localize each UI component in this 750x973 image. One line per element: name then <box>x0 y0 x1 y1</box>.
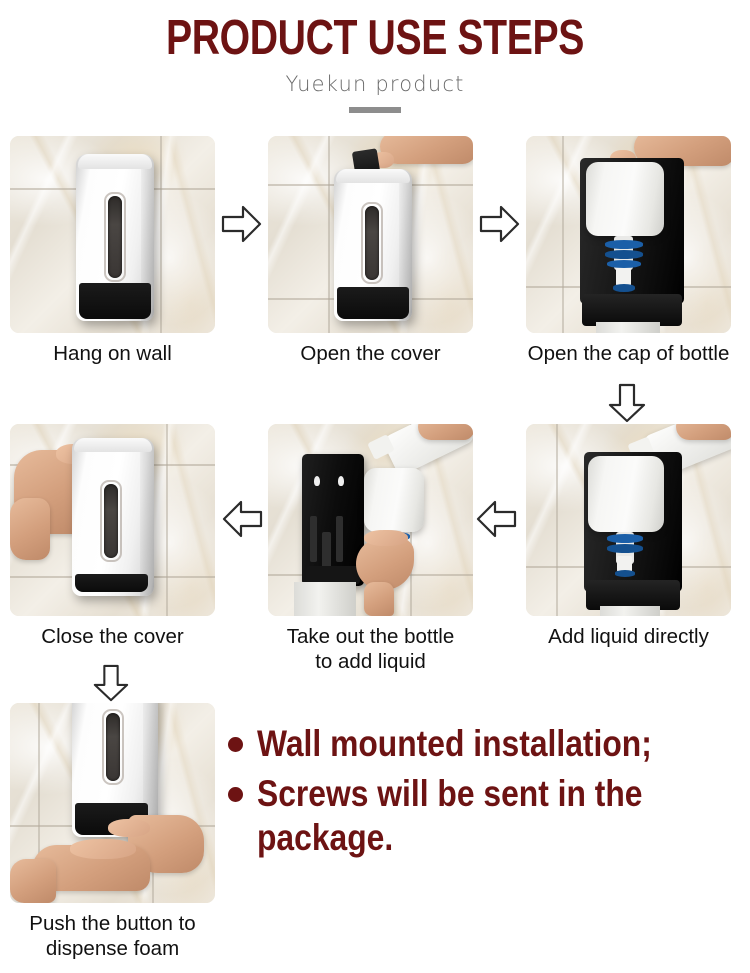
backplate-rail <box>310 516 317 562</box>
dispenser-top-cover <box>78 154 153 169</box>
pump-ring <box>607 260 641 268</box>
soap-dispenser <box>76 154 154 321</box>
step-card-4: Add liquid directly <box>526 424 731 616</box>
dispenser-push-button <box>79 283 151 319</box>
arrow-down-icon <box>92 664 130 702</box>
title-divider <box>349 107 401 113</box>
step-card-6: Close the cover <box>10 424 215 616</box>
arrow-left-icon <box>222 500 263 538</box>
forearm <box>364 582 394 616</box>
step-photo-5 <box>268 424 473 616</box>
screw-hole <box>314 476 320 486</box>
step-card-2: Open the cover <box>268 136 473 333</box>
arrow-right-icon <box>479 205 520 243</box>
pump-ring <box>607 534 643 543</box>
step-caption-7: Push the button to dispense foam <box>10 911 215 961</box>
header: PRODUCT USE STEPS Yuekun product <box>0 0 750 120</box>
feature-bullet-text: Screws will be sent in the package. <box>257 772 642 860</box>
feature-bullet-text: Wall mounted installation; <box>257 722 652 766</box>
arrow-down-icon <box>608 383 646 423</box>
finger <box>364 530 408 546</box>
step-caption-2: Open the cover <box>268 341 473 366</box>
screw-hole <box>338 476 344 486</box>
step-card-7: Push the button to dispense foam <box>10 703 215 903</box>
page-title: PRODUCT USE STEPS <box>75 13 675 64</box>
dispenser-backplate <box>302 454 364 586</box>
pump-ring <box>605 240 643 249</box>
feature-bullet-item: Screws will be sent in the package. <box>228 772 748 860</box>
tile-grout-line <box>556 424 558 616</box>
dispenser-level-window <box>106 713 120 781</box>
step-photo-4 <box>526 424 731 616</box>
tile-grout-line <box>160 136 162 333</box>
pump-ring <box>615 570 635 577</box>
soap-dispenser <box>334 169 412 321</box>
counter-pedestal <box>600 606 660 616</box>
step-caption-6: Close the cover <box>10 624 215 649</box>
refill-bottle <box>586 162 664 236</box>
arrow-right-icon <box>221 205 262 243</box>
dispenser-push-button <box>75 574 148 592</box>
forearm <box>10 859 56 903</box>
step-card-3: Open the cap of bottle <box>526 136 731 333</box>
refill-bottle <box>364 468 424 532</box>
step-caption-3: Open the cap of bottle <box>526 341 731 366</box>
bullet-dot-icon <box>228 737 243 752</box>
dispenser-push-button <box>337 287 409 319</box>
feature-bullet-item: Wall mounted installation; <box>228 722 748 766</box>
step-card-1: Hang on wall <box>10 136 215 333</box>
feature-bullet-list: Wall mounted installation; Screws will b… <box>228 722 748 866</box>
backplate-rail <box>336 516 343 562</box>
pump-ring <box>605 250 643 259</box>
step-caption-4: Add liquid directly <box>526 624 731 649</box>
soap-dispenser <box>72 438 154 596</box>
step-card-5: Take out the bottle to add liquid <box>268 424 473 616</box>
refill-bottle <box>588 456 664 532</box>
finger <box>108 819 150 837</box>
tile-grout-line <box>562 136 564 333</box>
counter-pedestal <box>596 322 660 333</box>
dispenser-level-window <box>104 484 118 558</box>
tile-grout-line <box>166 424 168 616</box>
dispenser-side-edge <box>140 438 154 596</box>
page-subtitle: Yuekun product <box>0 72 750 96</box>
dispenser-top-cover <box>74 438 153 452</box>
step-photo-7 <box>10 703 215 903</box>
arrow-left-icon <box>476 500 517 538</box>
step-photo-2 <box>268 136 473 333</box>
counter-pedestal <box>294 582 356 616</box>
step-photo-3 <box>526 136 731 333</box>
step-photo-6 <box>10 424 215 616</box>
bullet-dot-icon <box>228 787 243 802</box>
dispenser-top-cover <box>336 169 411 183</box>
hand <box>418 424 473 440</box>
step-caption-1: Hang on wall <box>10 341 215 366</box>
tile-grout-line <box>328 136 330 333</box>
pump-ring <box>607 544 643 553</box>
dispenser-level-window <box>365 206 379 280</box>
finger <box>70 839 136 859</box>
dispenser-level-window <box>108 196 122 278</box>
backplate-rail <box>322 532 331 568</box>
pump-ring <box>613 284 635 292</box>
product-use-steps-infographic: PRODUCT USE STEPS Yuekun product Hang on… <box>0 0 750 973</box>
step-photo-1 <box>10 136 215 333</box>
step-caption-5: Take out the bottle to add liquid <box>268 624 473 674</box>
forearm <box>10 498 50 560</box>
hand <box>676 424 731 440</box>
